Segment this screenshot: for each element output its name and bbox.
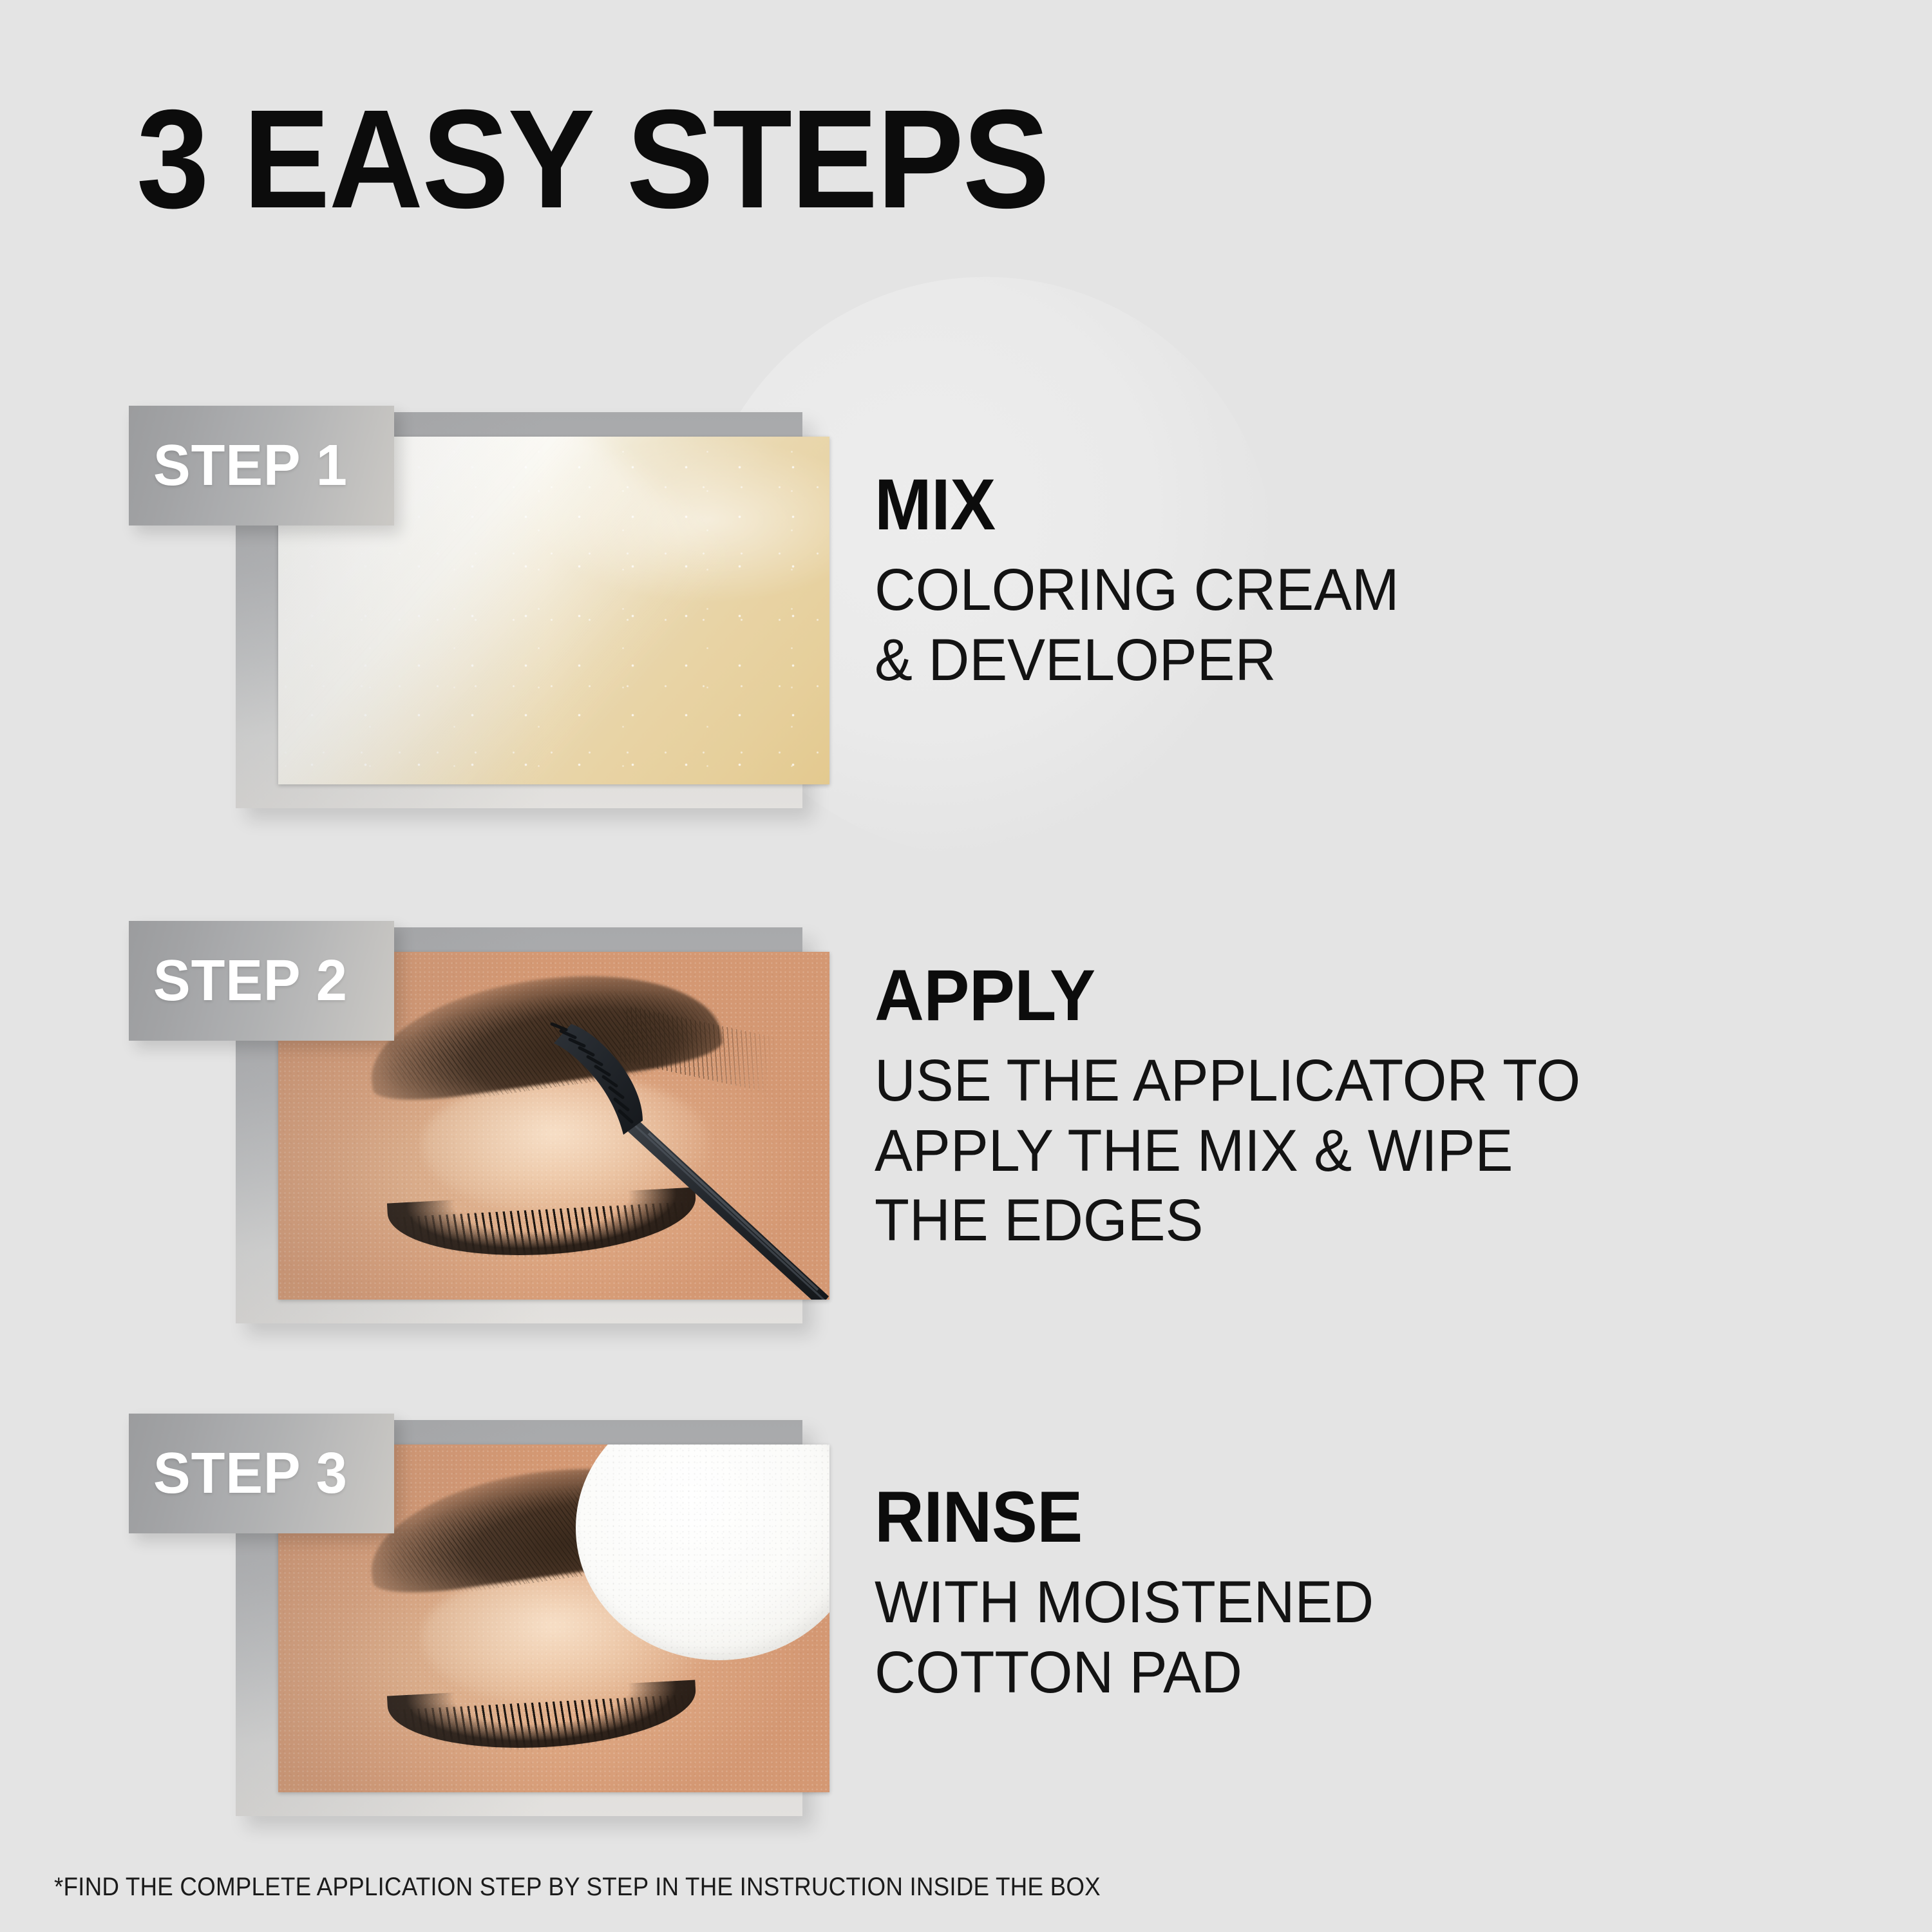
infographic-page: 3 EASY STEPS STEP 1 MIX COLORING CREAM &… — [0, 0, 1932, 1932]
step-headline-3: RINSE — [875, 1481, 1368, 1553]
step-badge-label-2: STEP 2 — [153, 948, 348, 1014]
step-badge-3: STEP 3 — [129, 1414, 394, 1533]
step-badge-label-3: STEP 3 — [153, 1441, 348, 1507]
step-subcopy-1: COLORING CREAM & DEVELOPER — [875, 555, 1399, 695]
step-copy-1: MIX COLORING CREAM & DEVELOPER — [875, 469, 1421, 695]
step-badge-label-1: STEP 1 — [153, 433, 348, 499]
step-subcopy-3: WITH MOISTENED COTTON PAD — [875, 1567, 1374, 1707]
page-title: 3 EASY STEPS — [137, 95, 1048, 225]
footnote-disclaimer: *FIND THE COMPLETE APPLICATION STEP BY S… — [54, 1873, 1101, 1902]
step-subcopy-2: USE THE APPLICATOR TO APPLY THE MIX & WI… — [875, 1046, 1580, 1256]
step-badge-1: STEP 1 — [129, 406, 394, 526]
step-badge-2: STEP 2 — [129, 921, 394, 1041]
step-headline-2: APPLY — [875, 960, 1573, 1032]
step-copy-3: RINSE WITH MOISTENED COTTON PAD — [875, 1481, 1395, 1707]
step-headline-1: MIX — [875, 469, 1394, 541]
step-copy-2: APPLY USE THE APPLICATOR TO APPLY THE MI… — [875, 960, 1610, 1256]
